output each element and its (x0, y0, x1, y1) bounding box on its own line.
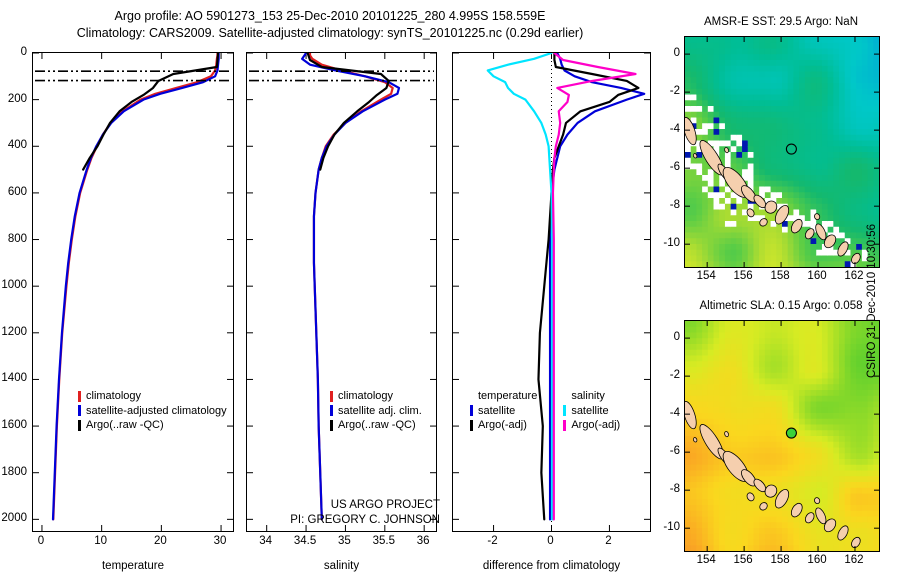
figure-title: Argo profile: AO 5901273_153 25-Dec-2010… (0, 8, 660, 42)
temperature-legend: climatology satellite-adjusted climatolo… (78, 389, 227, 433)
map-y-tick-label: -6 (656, 445, 680, 457)
x-tick-label: 34 (259, 535, 272, 547)
legend-swatch-climatology (330, 391, 333, 402)
title-line-2: Climatology: CARS2009. Satellite-adjuste… (0, 25, 660, 42)
map-y-tick-label: -4 (656, 407, 680, 419)
depth-tick-label: 1200 (0, 326, 27, 338)
csiro-timestamp: CSIRO 31-Dec-2010 10:30:56 (866, 188, 878, 378)
depth-tick-label: 1800 (0, 466, 27, 478)
profile-curve (302, 53, 399, 519)
legend-label: Argo(..raw -QC) (86, 418, 164, 433)
legend-label: Argo(-adj) (478, 418, 527, 433)
legend-label: satellite (478, 404, 515, 419)
x-tick-label: 0 (547, 535, 553, 547)
legend-item: Argo(..raw -QC) (78, 418, 227, 433)
legend-swatch-argo (78, 420, 81, 431)
legend-item: Argo(-adj) (563, 418, 620, 433)
depth-tick-label: 1600 (0, 419, 27, 431)
map-y-tick-label: -10 (656, 237, 680, 249)
x-tick-label: 34.5 (294, 535, 316, 547)
x-tick-label: 36 (417, 535, 430, 547)
legend-item: satellite (470, 404, 537, 419)
argo-position-marker[interactable] (786, 428, 796, 438)
legend-label: Argo(-adj) (571, 418, 620, 433)
map-x-tick-label: 160 (807, 270, 826, 282)
x-tick-label: 10 (94, 535, 107, 547)
sst-map-canvas[interactable] (685, 37, 879, 267)
sla-map-title: Altimetric SLA: 0.15 Argo: 0.058 (668, 300, 894, 312)
map-y-tick-label: -6 (656, 161, 680, 173)
map-y-tick-label: 0 (656, 331, 680, 343)
x-tick-label: 35 (338, 535, 351, 547)
difference-panel (452, 52, 651, 532)
legend-item: satellite adj. clim. (330, 404, 422, 419)
legend-swatch-argo (330, 420, 333, 431)
profile-curve (53, 53, 219, 519)
legend-label: climatology (338, 389, 393, 404)
depth-tick-label: 400 (0, 139, 27, 151)
depth-tick-label: 1400 (0, 372, 27, 384)
salinity-legend: climatology satellite adj. clim. Argo(..… (330, 389, 422, 433)
legend-label: satellite-adjusted climatology (86, 404, 227, 419)
map-y-tick-label: -4 (656, 123, 680, 135)
difference-legend-temperature: temperature satellite Argo(-adj) (470, 389, 537, 433)
x-tick-label: 0 (38, 535, 44, 547)
legend-swatch-temp-argo (470, 420, 473, 431)
legend-label: Argo(..raw -QC) (338, 418, 416, 433)
x-tick-label: 35.5 (373, 535, 395, 547)
project-credit: US ARGO PROJECT PI: GREGORY C. JOHNSON (240, 498, 440, 528)
legend-swatch-sal-satellite (563, 405, 566, 416)
temperature-panel (32, 52, 234, 532)
sst-map-title: AMSR-E SST: 29.5 Argo: NaN (668, 16, 894, 28)
map-x-tick-label: 162 (844, 554, 863, 566)
depth-tick-label: 1000 (0, 279, 27, 291)
legend-swatch-climatology (78, 391, 81, 402)
depth-tick-label: 2000 (0, 512, 27, 524)
legend-swatch-sal-argo (563, 420, 566, 431)
map-y-tick-label: -8 (656, 483, 680, 495)
map-y-tick-label: -8 (656, 199, 680, 211)
credit-line-1: US ARGO PROJECT (240, 498, 440, 513)
difference-plot (453, 53, 650, 531)
depth-tick-label: 600 (0, 186, 27, 198)
depth-tick-label: 200 (0, 93, 27, 105)
difference-legend: temperature satellite Argo(-adj) salinit… (470, 389, 620, 433)
map-x-tick-label: 158 (770, 554, 789, 566)
credit-line-2: PI: GREGORY C. JOHNSON (240, 513, 440, 528)
legend-label: climatology (86, 389, 141, 404)
x-tick-label: -2 (487, 535, 497, 547)
legend-swatch-satellite (78, 405, 81, 416)
map-x-tick-label: 156 (734, 554, 753, 566)
difference-legend-salinity: salinity satellite Argo(-adj) (563, 389, 620, 433)
depth-tick-label: 800 (0, 233, 27, 245)
legend-item: Argo(-adj) (470, 418, 537, 433)
legend-heading: salinity (571, 389, 620, 404)
title-line-1: Argo profile: AO 5901273_153 25-Dec-2010… (0, 8, 660, 25)
difference-axis-label: difference from climatology (452, 560, 651, 572)
map-x-tick-label: 160 (807, 554, 826, 566)
depth-tick-label: 0 (0, 46, 27, 58)
sla-map-canvas[interactable] (685, 321, 879, 551)
x-tick-label: 2 (605, 535, 611, 547)
legend-label: satellite adj. clim. (338, 404, 422, 419)
legend-item: climatology (330, 389, 422, 404)
map-y-tick-label: 0 (656, 47, 680, 59)
sla-map[interactable] (684, 320, 880, 552)
legend-item: satellite (563, 404, 620, 419)
map-y-tick-label: -10 (656, 521, 680, 533)
map-x-tick-label: 154 (697, 554, 716, 566)
legend-swatch-satellite (330, 405, 333, 416)
legend-heading: temperature (478, 389, 537, 404)
legend-item: climatology (78, 389, 227, 404)
salinity-panel (246, 52, 437, 532)
map-x-tick-label: 156 (734, 270, 753, 282)
x-tick-label: 30 (214, 535, 227, 547)
legend-item: Argo(..raw -QC) (330, 418, 422, 433)
legend-swatch-temp-satellite (470, 405, 473, 416)
x-tick-label: 20 (154, 535, 167, 547)
map-x-tick-label: 154 (697, 270, 716, 282)
profile-curve (550, 53, 644, 519)
temperature-axis-label: temperature (32, 560, 234, 572)
map-x-tick-label: 162 (844, 270, 863, 282)
salinity-axis-label: salinity (246, 560, 437, 572)
profile-curve (310, 53, 393, 519)
legend-item: satellite-adjusted climatology (78, 404, 227, 419)
profile-curve (53, 53, 217, 519)
map-y-tick-label: -2 (656, 369, 680, 381)
map-x-tick-label: 158 (770, 270, 789, 282)
salinity-plot (247, 53, 436, 531)
map-y-tick-label: -2 (656, 85, 680, 97)
legend-label: satellite (571, 404, 608, 419)
sst-map[interactable] (684, 36, 880, 268)
temperature-plot (33, 53, 233, 531)
